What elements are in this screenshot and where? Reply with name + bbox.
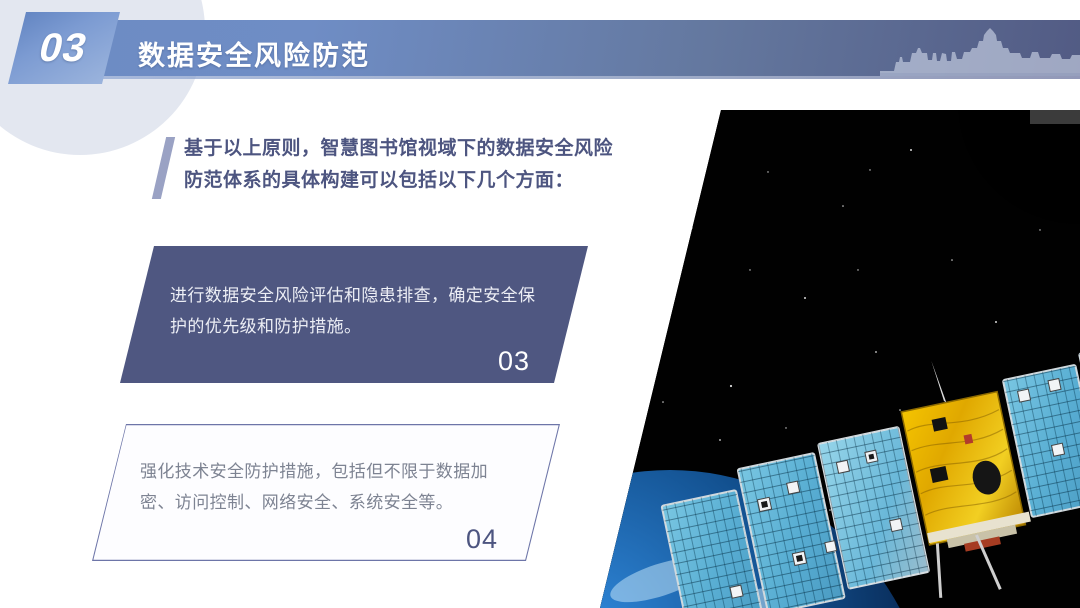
header-banner-underline [95, 76, 1080, 79]
card-text: 进行数据安全风险评估和隐患排查，确定安全保护的优先级和防护措施。 [170, 280, 550, 342]
intro-text: 基于以上原则，智慧图书馆视域下的数据安全风险防范体系的具体构建可以包括以下几个方… [184, 133, 625, 197]
slide-header: 03 数据安全风险防范 [0, 8, 1080, 86]
card-number: 04 [466, 524, 498, 555]
satellite-illustration [600, 110, 1080, 608]
intro-block: 基于以上原则，智慧图书馆视域下的数据安全风险防范体系的具体构建可以包括以下几个方… [160, 133, 625, 197]
card-number: 03 [498, 346, 530, 377]
satellite-over-earth-photo [600, 110, 1080, 608]
section-number: 03 [34, 26, 92, 71]
content-card-04[interactable]: 强化技术安全防护措施，包括但不限于数据加密、访问控制、网络安全、系统安全等。 0… [92, 424, 560, 561]
page-title: 数据安全风险防范 [138, 34, 370, 73]
content-card-03[interactable]: 进行数据安全风险评估和隐患排查，确定安全保护的优先级和防护措施。 03 [120, 246, 588, 383]
slide-root: 03 数据安全风险防范 基于以上原则，智慧图书馆视域下的数据安全风险防范体系的具… [0, 0, 1080, 608]
section-number-badge: 03 [8, 12, 120, 84]
card-text: 强化技术安全防护措施，包括但不限于数据加密、访问控制、网络安全、系统安全等。 [140, 456, 520, 518]
intro-accent-bar [152, 137, 175, 199]
city-skyline-icon [880, 28, 1080, 76]
